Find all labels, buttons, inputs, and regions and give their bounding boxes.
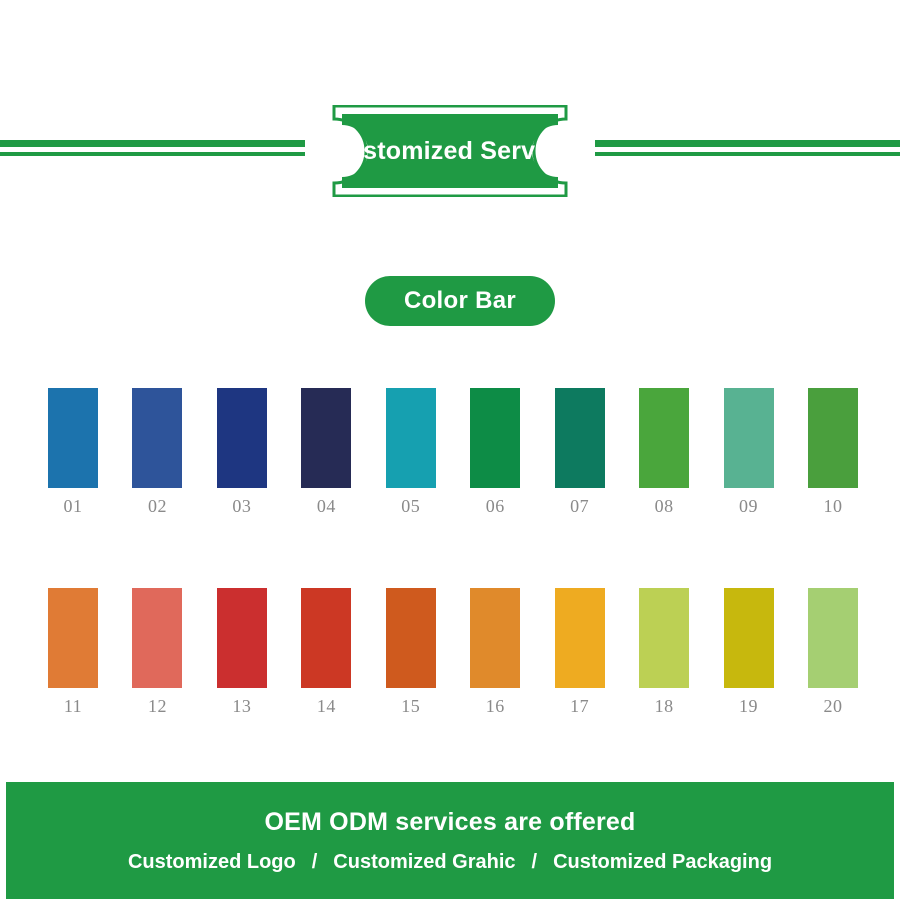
swatch-caption: 17 xyxy=(570,696,589,717)
swatch-cell[interactable]: 13 xyxy=(217,588,267,718)
swatch-cell[interactable]: 06 xyxy=(470,388,520,518)
swatch-cell[interactable]: 05 xyxy=(386,388,436,518)
swatch-chip[interactable] xyxy=(555,588,605,688)
swatch-chip[interactable] xyxy=(555,388,605,488)
swatch-chip[interactable] xyxy=(808,588,858,688)
color-bar-pill: Color Bar xyxy=(365,276,555,326)
swatch-caption: 16 xyxy=(486,696,505,717)
swatch-caption: 15 xyxy=(401,696,420,717)
footer-item-logo: Customized Logo xyxy=(128,851,296,874)
footer-headline: OEM ODM services are offered xyxy=(264,808,635,837)
swatch-cell[interactable]: 10 xyxy=(808,388,858,518)
swatch-chip[interactable] xyxy=(639,388,689,488)
swatch-caption: 18 xyxy=(655,696,674,717)
swatch-chip[interactable] xyxy=(639,588,689,688)
swatch-cell[interactable]: 18 xyxy=(639,588,689,718)
swatch-chip[interactable] xyxy=(386,588,436,688)
swatch-chip[interactable] xyxy=(808,388,858,488)
swatch-caption: 07 xyxy=(570,496,589,517)
swatch-chip[interactable] xyxy=(217,588,267,688)
swatch-chip[interactable] xyxy=(217,388,267,488)
header-banner-section: Customized Service xyxy=(0,0,900,240)
swatch-caption: 03 xyxy=(232,496,251,517)
swatch-row-2: 11 12 13 14 15 16 17 18 19 20 xyxy=(48,588,858,718)
swatch-cell[interactable]: 04 xyxy=(301,388,351,518)
swatch-row-1: 01 02 03 04 05 06 07 08 09 10 xyxy=(48,388,858,518)
swatch-chip[interactable] xyxy=(470,588,520,688)
swatch-caption: 08 xyxy=(655,496,674,517)
swatch-cell[interactable]: 09 xyxy=(724,388,774,518)
footer-separator: / xyxy=(296,851,334,874)
swatch-cell[interactable]: 12 xyxy=(132,588,182,718)
swatch-cell[interactable]: 08 xyxy=(639,388,689,518)
swatch-cell[interactable]: 20 xyxy=(808,588,858,718)
banner-title: Customized Service xyxy=(320,105,580,197)
swatch-cell[interactable]: 03 xyxy=(217,388,267,518)
swatch-caption: 10 xyxy=(823,496,842,517)
swatch-caption: 09 xyxy=(739,496,758,517)
header-plaque: Customized Service xyxy=(320,105,580,197)
swatch-chip[interactable] xyxy=(48,388,98,488)
swatch-cell[interactable]: 01 xyxy=(48,388,98,518)
swatch-caption: 12 xyxy=(148,696,167,717)
swatch-caption: 14 xyxy=(317,696,336,717)
swatch-caption: 01 xyxy=(64,496,83,517)
swatch-chip[interactable] xyxy=(132,588,182,688)
swatch-chip[interactable] xyxy=(132,388,182,488)
swatch-chip[interactable] xyxy=(301,388,351,488)
swatch-caption: 04 xyxy=(317,496,336,517)
footer-item-packaging: Customized Packaging xyxy=(553,851,772,874)
swatch-caption: 19 xyxy=(739,696,758,717)
swatch-caption: 05 xyxy=(401,496,420,517)
swatch-chip[interactable] xyxy=(724,388,774,488)
swatch-chip[interactable] xyxy=(724,588,774,688)
swatch-cell[interactable]: 17 xyxy=(555,588,605,718)
swatch-chip[interactable] xyxy=(386,388,436,488)
swatch-cell[interactable]: 16 xyxy=(470,588,520,718)
swatch-cell[interactable]: 15 xyxy=(386,588,436,718)
swatch-cell[interactable]: 02 xyxy=(132,388,182,518)
swatch-caption: 02 xyxy=(148,496,167,517)
swatch-cell[interactable]: 07 xyxy=(555,388,605,518)
footer-separator: / xyxy=(516,851,554,874)
swatch-cell[interactable]: 14 xyxy=(301,588,351,718)
swatch-chip[interactable] xyxy=(48,588,98,688)
swatch-cell[interactable]: 19 xyxy=(724,588,774,718)
footer-banner: OEM ODM services are offered Customized … xyxy=(6,782,894,899)
swatch-chip[interactable] xyxy=(470,388,520,488)
footer-item-graphic: Customized Grahic xyxy=(333,851,515,874)
swatch-caption: 06 xyxy=(486,496,505,517)
swatch-chip[interactable] xyxy=(301,588,351,688)
swatch-caption: 20 xyxy=(823,696,842,717)
swatch-caption: 11 xyxy=(64,696,82,717)
footer-subline: Customized Logo / Customized Grahic / Cu… xyxy=(128,851,772,874)
swatch-cell[interactable]: 11 xyxy=(48,588,98,718)
swatch-caption: 13 xyxy=(232,696,251,717)
color-bar-pill-label: Color Bar xyxy=(404,287,516,315)
